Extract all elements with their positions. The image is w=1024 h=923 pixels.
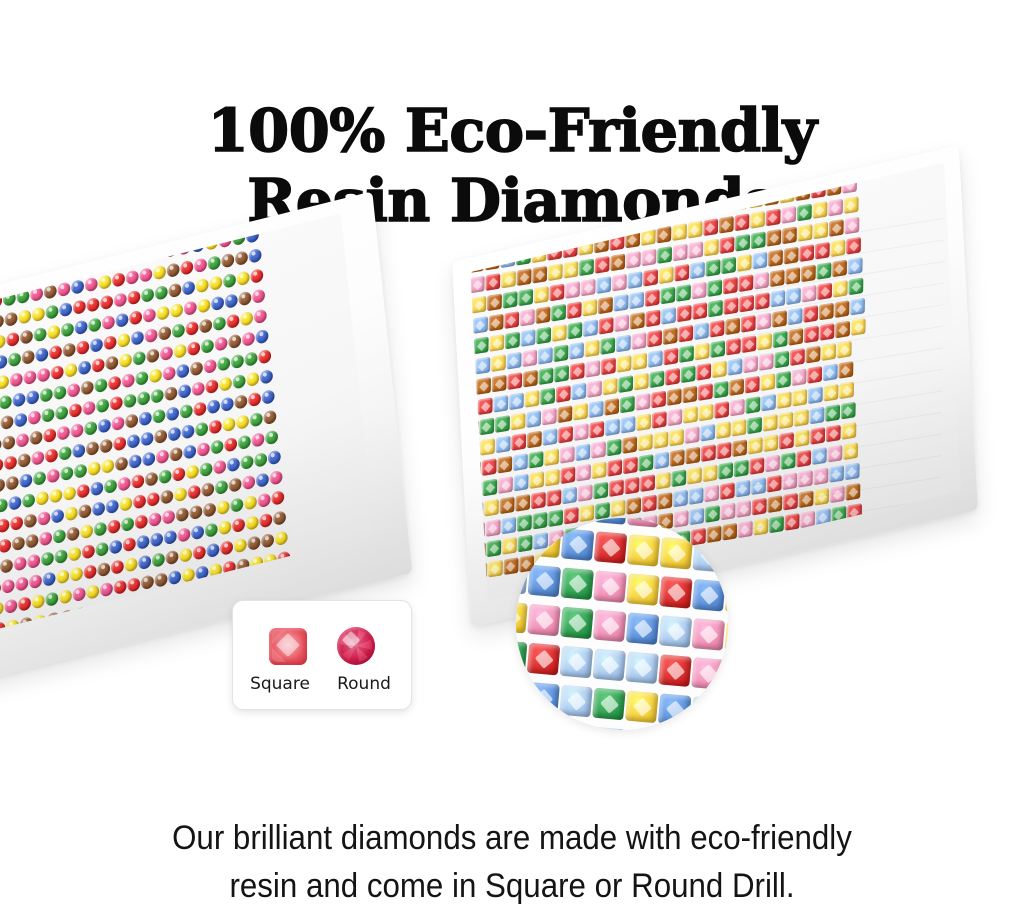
round-drill xyxy=(20,330,33,345)
round-drill xyxy=(8,352,21,367)
square-drill xyxy=(527,430,542,448)
square-drill xyxy=(563,486,578,504)
square-drill xyxy=(754,518,769,536)
square-drill xyxy=(622,436,637,454)
round-drill xyxy=(193,402,206,417)
square-drill xyxy=(576,443,591,461)
round-drill xyxy=(115,313,128,328)
square-drill xyxy=(629,291,644,309)
square-drill xyxy=(665,368,680,386)
square-drill xyxy=(646,309,661,327)
round-drill xyxy=(4,312,17,327)
square-drill xyxy=(772,310,787,328)
round-drill xyxy=(256,329,269,344)
round-drill xyxy=(102,315,115,330)
square-drill xyxy=(662,307,677,325)
square-drill xyxy=(706,259,721,277)
square-drill xyxy=(586,359,601,377)
square-drill xyxy=(512,433,527,451)
square-drill xyxy=(557,405,572,423)
square-drill xyxy=(727,337,742,355)
round-drill xyxy=(230,498,243,513)
square-drill xyxy=(745,376,760,394)
square-drill xyxy=(793,388,808,406)
round-drill xyxy=(106,356,119,371)
square-drill xyxy=(627,534,660,567)
square-drill xyxy=(744,355,759,373)
round-drill xyxy=(127,577,140,592)
round-drill xyxy=(131,474,144,489)
square-drill xyxy=(487,539,502,557)
square-drill xyxy=(812,447,827,465)
square-drill xyxy=(564,260,579,278)
round-drill xyxy=(133,214,146,223)
square-drill xyxy=(717,441,732,459)
square-drill xyxy=(849,277,864,295)
product-banner: 100% Eco-Friendly Resin Diamonds xyxy=(0,0,1024,923)
round-drill xyxy=(252,432,265,447)
square-drill xyxy=(768,495,783,513)
round-drill xyxy=(115,456,128,471)
round-drill xyxy=(67,239,80,254)
square-drill xyxy=(568,321,583,339)
round-drill xyxy=(221,253,234,268)
round-drill xyxy=(73,300,86,315)
square-drill xyxy=(798,224,813,242)
square-drill xyxy=(833,280,848,298)
round-drill xyxy=(4,455,17,470)
square-drill xyxy=(797,203,812,221)
round-drill xyxy=(0,458,4,473)
round-drill xyxy=(8,496,21,511)
square-drill xyxy=(533,265,548,283)
square-drill xyxy=(487,293,502,311)
round-drill xyxy=(149,369,162,384)
round-drill xyxy=(162,510,175,525)
round-drill xyxy=(94,235,107,250)
round-drill xyxy=(0,231,10,246)
square-drill xyxy=(508,372,523,390)
square-drill xyxy=(675,264,690,282)
square-drill xyxy=(813,201,828,219)
round-drill xyxy=(168,570,181,585)
round-drill xyxy=(178,384,191,399)
square-drill xyxy=(716,421,731,439)
square-drill xyxy=(753,251,768,269)
square-drill xyxy=(815,241,830,259)
round-drill xyxy=(166,406,179,421)
square-drill xyxy=(694,322,709,340)
round-drill xyxy=(236,415,249,430)
round-drill xyxy=(108,376,121,391)
square-drill xyxy=(705,238,720,256)
square-drill xyxy=(714,380,729,398)
square-drill xyxy=(627,518,660,527)
round-drill xyxy=(68,547,81,562)
round-drill xyxy=(49,489,62,504)
square-drill xyxy=(609,479,624,497)
round-drill xyxy=(47,325,60,340)
square-drill xyxy=(637,413,652,431)
square-drill xyxy=(574,423,589,441)
square-drill xyxy=(603,377,618,395)
round-drill xyxy=(120,214,133,225)
square-drill xyxy=(561,567,594,600)
square-drill xyxy=(765,454,780,472)
round-drill xyxy=(0,518,9,533)
square-drill xyxy=(486,519,501,537)
round-drill xyxy=(34,327,47,342)
square-drill xyxy=(689,487,704,505)
round-drill xyxy=(194,258,207,273)
square-drill xyxy=(592,461,607,479)
round-drill xyxy=(246,372,259,387)
round-drill xyxy=(43,428,56,443)
square-drill xyxy=(639,454,654,472)
square-drill xyxy=(585,339,600,357)
round-drill xyxy=(57,282,70,297)
round-drill xyxy=(66,527,79,542)
round-drill xyxy=(148,512,161,527)
square-drill xyxy=(527,682,560,715)
square-drill xyxy=(817,262,832,280)
square-drill xyxy=(632,332,647,350)
round-drill xyxy=(214,624,227,639)
round-drill xyxy=(121,373,134,388)
square-drill xyxy=(560,606,593,639)
square-drill xyxy=(785,513,800,531)
round-drill xyxy=(41,551,54,566)
square-drill xyxy=(686,446,701,464)
round-drill xyxy=(273,511,286,526)
round-drill xyxy=(88,461,101,476)
round-drill xyxy=(215,480,228,495)
square-drill xyxy=(712,360,727,378)
round-drill xyxy=(72,443,85,458)
round-drill xyxy=(139,555,152,570)
square-drill xyxy=(679,324,694,342)
round-drill xyxy=(82,401,95,416)
square-drill xyxy=(601,337,616,355)
drill-type-legend: Square Round xyxy=(232,600,412,710)
round-drill xyxy=(45,592,58,607)
square-drill xyxy=(649,350,664,368)
square-drill xyxy=(790,348,805,366)
round-drill xyxy=(22,350,35,365)
round-drill xyxy=(38,224,51,239)
round-drill xyxy=(250,269,263,284)
round-drill xyxy=(0,314,4,329)
square-drill xyxy=(560,684,593,717)
square-drill xyxy=(626,612,659,645)
round-drill xyxy=(57,426,70,441)
square-drill xyxy=(799,490,814,508)
square-drill xyxy=(571,362,586,380)
square-drill xyxy=(785,267,800,285)
round-drill xyxy=(158,326,171,341)
round-drill xyxy=(258,493,271,508)
square-drill xyxy=(642,494,657,512)
round-gem-icon xyxy=(337,627,375,665)
round-drill xyxy=(53,529,66,544)
square-drill xyxy=(770,269,785,287)
square-drill xyxy=(750,211,765,229)
round-drill xyxy=(264,410,277,425)
round-drill xyxy=(102,459,115,474)
square-drill xyxy=(559,723,592,730)
round-drill xyxy=(12,249,25,264)
square-drill xyxy=(473,316,488,334)
square-drill xyxy=(781,452,796,470)
square-drill xyxy=(829,465,844,483)
square-drill xyxy=(691,657,724,690)
square-drill xyxy=(715,401,730,419)
square-drill xyxy=(767,475,782,493)
round-drill xyxy=(24,370,37,385)
square-drill xyxy=(782,206,797,224)
square-drill xyxy=(560,446,575,464)
round-drill xyxy=(145,472,158,487)
square-drill xyxy=(655,451,670,469)
round-drill xyxy=(238,435,251,450)
round-drill xyxy=(67,383,80,398)
square-drill xyxy=(472,296,487,314)
square-drill xyxy=(492,374,507,392)
round-drill xyxy=(209,276,222,291)
round-drill xyxy=(227,314,240,329)
square-drill xyxy=(752,231,767,249)
round-drill xyxy=(125,557,138,572)
square-drill xyxy=(741,315,756,333)
square-drill xyxy=(560,645,593,678)
square-drill xyxy=(810,406,825,424)
round-drill xyxy=(53,385,66,400)
round-drill xyxy=(61,322,74,337)
round-drill xyxy=(240,311,253,326)
round-drill xyxy=(221,397,234,412)
square-drill xyxy=(520,308,535,326)
square-drill xyxy=(483,478,498,496)
square-drill xyxy=(534,286,549,304)
round-drill xyxy=(30,430,43,445)
round-drill xyxy=(110,396,123,411)
round-drill xyxy=(166,550,179,565)
square-drill xyxy=(516,600,528,633)
square-drill xyxy=(539,367,554,385)
round-drill xyxy=(223,273,236,288)
square-drill xyxy=(516,494,531,512)
square-drill xyxy=(773,330,788,348)
round-drill xyxy=(137,535,150,550)
square-drill xyxy=(784,246,799,264)
round-drill xyxy=(182,281,195,296)
square-drill xyxy=(725,581,728,614)
square-drill xyxy=(719,216,734,234)
round-drill xyxy=(35,491,48,506)
square-drill xyxy=(697,363,712,381)
round-drill xyxy=(267,450,280,465)
square-drill xyxy=(711,340,726,358)
round-drill xyxy=(65,219,78,234)
round-drill xyxy=(92,214,105,229)
round-drill xyxy=(207,543,220,558)
square-drill xyxy=(822,343,837,361)
square-drill xyxy=(659,576,692,609)
square-drill xyxy=(633,352,648,370)
round-drill xyxy=(12,393,25,408)
square-drill xyxy=(598,296,613,314)
square-drill xyxy=(538,347,553,365)
square-drill xyxy=(627,251,642,269)
round-drill xyxy=(123,537,136,552)
square-drill xyxy=(625,690,658,723)
round-drill xyxy=(84,277,97,292)
round-drill xyxy=(135,371,148,386)
round-drill xyxy=(226,457,239,472)
round-drill xyxy=(43,572,56,587)
round-drill xyxy=(211,296,224,311)
round-drill xyxy=(187,628,200,643)
round-drill xyxy=(59,302,72,317)
round-drill xyxy=(2,579,15,594)
round-drill xyxy=(203,503,216,518)
square-drill xyxy=(720,482,735,500)
square-drill xyxy=(569,342,584,360)
round-drill xyxy=(199,319,212,334)
round-drill xyxy=(82,544,95,559)
square-drill xyxy=(828,444,843,462)
round-drill xyxy=(90,338,103,353)
square-drill xyxy=(498,209,513,227)
square-drill xyxy=(656,471,671,489)
square-drill xyxy=(693,302,708,320)
round-drill xyxy=(207,399,220,414)
round-drill xyxy=(114,293,127,308)
square-drill xyxy=(660,286,675,304)
square-drill xyxy=(725,621,728,654)
square-drill xyxy=(667,388,682,406)
square-drill xyxy=(780,431,795,449)
square-drill xyxy=(590,420,605,438)
round-drill xyxy=(33,471,46,486)
page-caption: Our brilliant diamonds are made with eco… xyxy=(41,814,983,910)
square-drill xyxy=(516,561,529,594)
square-drill xyxy=(604,398,619,416)
round-drill xyxy=(12,536,25,551)
square-drill xyxy=(567,301,582,319)
square-drill xyxy=(504,311,519,329)
square-drill xyxy=(852,318,867,336)
square-drill xyxy=(587,380,602,398)
square-drill xyxy=(594,570,627,603)
square-drill xyxy=(660,518,693,530)
round-drill xyxy=(80,237,93,252)
round-drill xyxy=(261,533,274,548)
round-drill xyxy=(37,368,50,383)
square-drill xyxy=(657,225,672,243)
round-drill xyxy=(176,220,189,235)
square-drill xyxy=(502,270,517,288)
square-drill xyxy=(519,288,534,306)
square-drill xyxy=(556,385,571,403)
round-drill xyxy=(22,493,35,508)
square-drill xyxy=(544,448,559,466)
round-drill xyxy=(75,320,88,335)
square-drill xyxy=(747,416,762,434)
square-drill xyxy=(735,213,750,231)
square-drill xyxy=(501,516,516,534)
round-drill xyxy=(150,389,163,404)
square-drill xyxy=(484,232,499,250)
square-drill xyxy=(751,477,766,495)
round-drill xyxy=(186,321,199,336)
round-drill xyxy=(195,278,208,293)
square-drill xyxy=(782,472,797,490)
square-drill xyxy=(738,520,753,538)
square-drill xyxy=(561,528,594,561)
round-drill xyxy=(121,517,134,532)
square-drill xyxy=(625,476,640,494)
square-drill xyxy=(620,395,635,413)
square-drill xyxy=(551,304,566,322)
square-drill xyxy=(746,396,761,414)
round-drill xyxy=(197,442,210,457)
round-drill xyxy=(190,218,203,233)
round-drill xyxy=(246,516,259,531)
round-drill xyxy=(55,549,68,564)
round-drill xyxy=(100,582,113,597)
round-drill xyxy=(4,599,17,614)
legend-gem-row xyxy=(233,619,411,665)
round-drill xyxy=(49,345,62,360)
round-drill xyxy=(195,422,208,437)
square-drill xyxy=(560,200,575,218)
round-drill xyxy=(109,539,122,554)
square-drill xyxy=(838,361,853,379)
square-drill xyxy=(525,390,540,408)
caption-line-2: resin and come in Square or Round Drill. xyxy=(41,862,983,910)
round-drill xyxy=(260,370,273,385)
legend-label-round: Round xyxy=(331,674,397,694)
square-drill xyxy=(530,471,545,489)
round-drill xyxy=(197,298,210,313)
square-drill xyxy=(491,354,506,372)
square-drill xyxy=(495,415,510,433)
square-drill xyxy=(663,327,678,345)
round-drill xyxy=(6,476,19,491)
product-photo xyxy=(0,200,1024,760)
square-drill xyxy=(555,364,570,382)
round-drill xyxy=(78,504,91,519)
round-drill xyxy=(51,509,64,524)
round-drill xyxy=(172,323,185,338)
square-drill xyxy=(837,340,852,358)
square-drill xyxy=(803,305,818,323)
round-drill xyxy=(28,410,41,425)
round-drill xyxy=(0,334,6,349)
square-drill xyxy=(652,411,667,429)
square-drill xyxy=(619,375,634,393)
square-drill xyxy=(657,492,672,510)
round-drill xyxy=(29,574,42,589)
round-drill xyxy=(187,485,200,500)
square-drill xyxy=(597,276,612,294)
round-drill xyxy=(57,569,70,584)
round-drill xyxy=(31,451,44,466)
square-drill xyxy=(547,489,562,507)
square-drill xyxy=(738,274,753,292)
round-drill xyxy=(254,309,267,324)
